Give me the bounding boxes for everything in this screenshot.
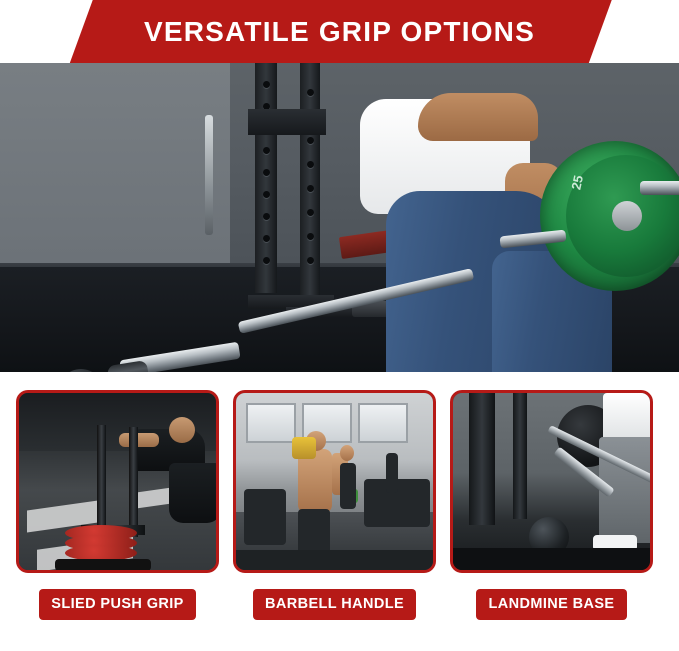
- product-feature-card: VERSATILE GRIP OPTIONS: [0, 0, 679, 651]
- plate-weight-label: 25: [568, 174, 586, 191]
- caption-row: SLIED PUSH GRIP BARBELL HANDLE LANDMINE …: [0, 573, 679, 620]
- page-title: VERSATILE GRIP OPTIONS: [144, 16, 535, 48]
- thumbnail-row: [0, 372, 679, 573]
- thumbnail-barbell-handle[interactable]: [233, 390, 436, 573]
- thumbnail-landmine-base[interactable]: [450, 390, 653, 573]
- caption-sled-push-grip: SLIED PUSH GRIP: [39, 589, 196, 620]
- caption-barbell-handle: BARBELL HANDLE: [253, 589, 416, 620]
- header-banner: VERSATILE GRIP OPTIONS: [0, 0, 679, 63]
- hero-image-artwork: 25: [0, 63, 679, 372]
- hero-image: 25: [0, 63, 679, 372]
- caption-landmine-base: LANDMINE BASE: [476, 589, 626, 620]
- thumbnail-sled-push-grip[interactable]: [16, 390, 219, 573]
